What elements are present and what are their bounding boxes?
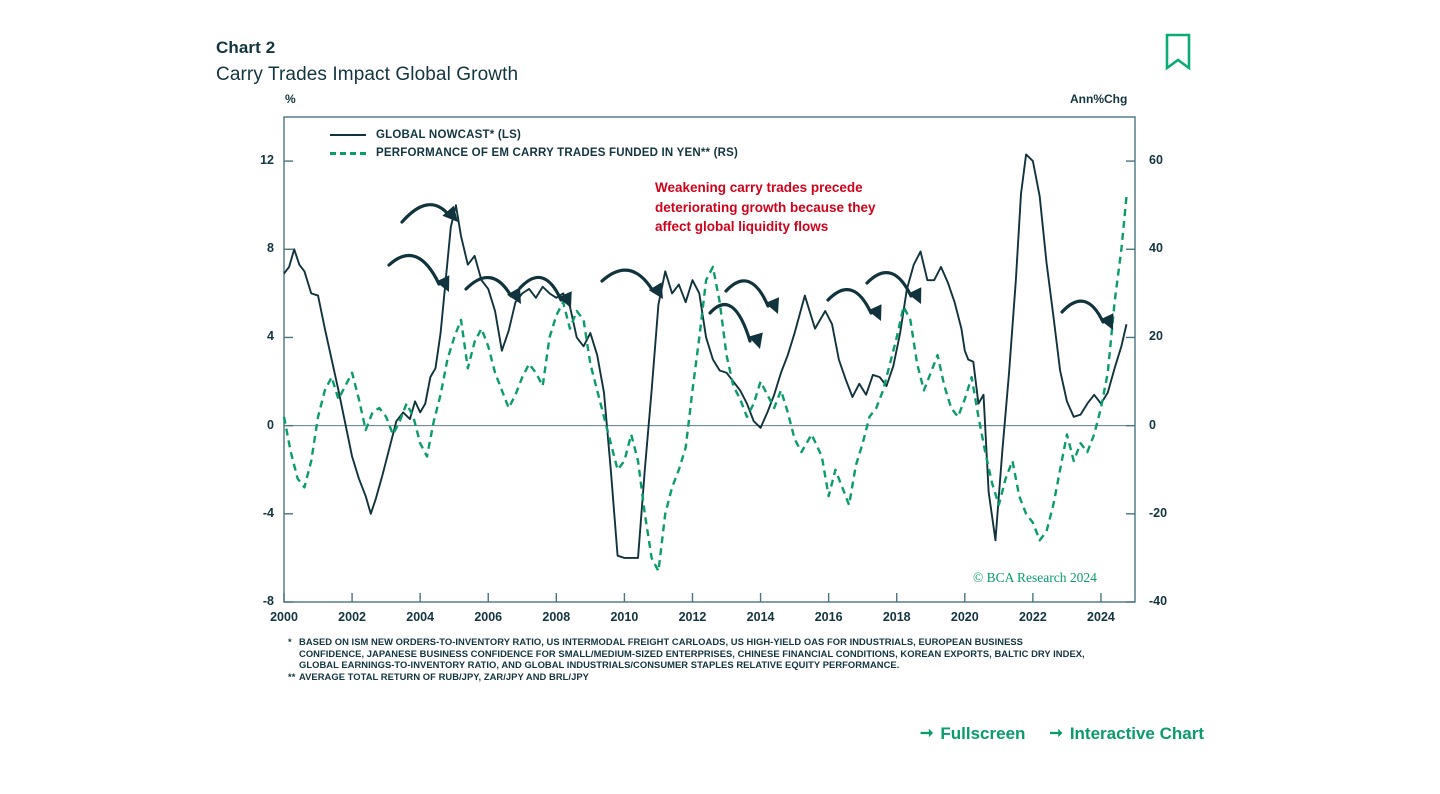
y2-axis-tick-label: -20 xyxy=(1149,506,1203,520)
chart-annotation-text: Weakening carry trades precede deteriora… xyxy=(655,178,925,237)
chart-page: Chart 2 Carry Trades Impact Global Growt… xyxy=(0,0,1440,794)
y2-axis-tick-label: -40 xyxy=(1149,594,1203,608)
x-axis-tick-label: 2020 xyxy=(937,610,993,624)
y2-axis-tick-label: 40 xyxy=(1149,241,1203,255)
x-axis-tick-label: 2006 xyxy=(460,610,516,624)
x-axis-tick-label: 2012 xyxy=(664,610,720,624)
arrow-right-icon: ➞ xyxy=(1049,726,1062,742)
y-axis-tick-label: 12 xyxy=(220,153,274,167)
chart-legend: GLOBAL NOWCAST* (LS) PERFORMANCE OF EM C… xyxy=(330,126,738,162)
legend-item-nowcast: GLOBAL NOWCAST* (LS) xyxy=(330,126,738,144)
y-axis-tick-label: -8 xyxy=(220,594,274,608)
footnotes: * BASED ON ISM NEW ORDERS-TO-INVENTORY R… xyxy=(288,636,1088,682)
footnote-1-text: BASED ON ISM NEW ORDERS-TO-INVENTORY RAT… xyxy=(299,636,1088,671)
y2-axis-tick-label: 20 xyxy=(1149,329,1203,343)
x-axis-tick-label: 2024 xyxy=(1073,610,1129,624)
footnote-2-marker: ** xyxy=(288,671,299,683)
footnote-2: ** AVERAGE TOTAL RETURN OF RUB/JPY, ZAR/… xyxy=(288,671,1088,683)
footnote-2-text: AVERAGE TOTAL RETURN OF RUB/JPY, ZAR/JPY… xyxy=(299,671,1088,683)
legend-item-carry: PERFORMANCE OF EM CARRY TRADES FUNDED IN… xyxy=(330,144,738,162)
legend-label-carry: PERFORMANCE OF EM CARRY TRADES FUNDED IN… xyxy=(376,147,738,159)
x-axis-tick-label: 2018 xyxy=(869,610,925,624)
y2-axis-tick-label: 60 xyxy=(1149,153,1203,167)
legend-swatch-solid-line xyxy=(330,134,366,136)
footnote-1-marker: * xyxy=(288,636,299,671)
annotation-line-2: deteriorating growth because they xyxy=(655,198,925,218)
interactive-chart-link[interactable]: ➞ Interactive Chart xyxy=(1049,724,1204,744)
annotation-line-3: affect global liquidity flows xyxy=(655,217,925,237)
fullscreen-link[interactable]: ➞ Fullscreen xyxy=(920,724,1025,744)
y2-axis-tick-label: 0 xyxy=(1149,418,1203,432)
y-axis-tick-label: 0 xyxy=(220,418,274,432)
annotation-line-1: Weakening carry trades precede xyxy=(655,178,925,198)
legend-swatch-dashed-line xyxy=(330,152,366,155)
x-axis-tick-label: 2016 xyxy=(801,610,857,624)
interactive-chart-link-label: Interactive Chart xyxy=(1070,724,1204,744)
x-axis-tick-label: 2008 xyxy=(528,610,584,624)
x-axis-tick-label: 2022 xyxy=(1005,610,1061,624)
legend-label-nowcast: GLOBAL NOWCAST* (LS) xyxy=(376,129,521,141)
x-axis-tick-label: 2014 xyxy=(733,610,789,624)
y-axis-tick-label: -4 xyxy=(220,506,274,520)
x-axis-tick-label: 2002 xyxy=(324,610,380,624)
fullscreen-link-label: Fullscreen xyxy=(940,724,1025,744)
y-axis-tick-label: 8 xyxy=(220,241,274,255)
arrow-right-icon: ➞ xyxy=(920,726,933,742)
footnote-1: * BASED ON ISM NEW ORDERS-TO-INVENTORY R… xyxy=(288,636,1088,671)
series-line-carry xyxy=(284,196,1126,571)
chart-action-links: ➞ Fullscreen ➞ Interactive Chart xyxy=(920,724,1204,744)
x-axis-tick-label: 2010 xyxy=(596,610,652,624)
x-axis-tick-label: 2004 xyxy=(392,610,448,624)
x-axis-tick-label: 2000 xyxy=(256,610,312,624)
copyright-watermark: © BCA Research 2024 xyxy=(973,570,1097,586)
y-axis-tick-label: 4 xyxy=(220,329,274,343)
